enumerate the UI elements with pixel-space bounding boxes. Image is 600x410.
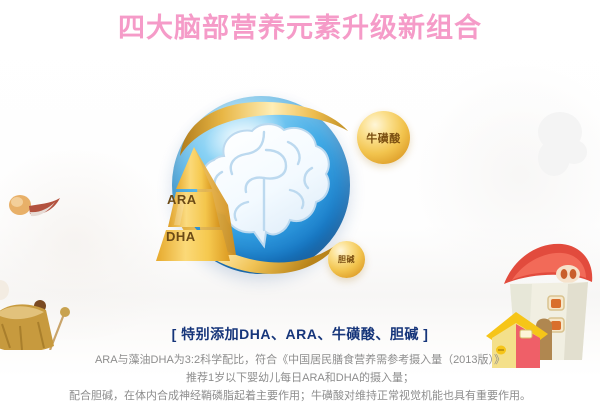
choline-ball: 胆碱: [328, 241, 365, 278]
copy-body-line-1: ARA与藻油DHA为3:2科学配比，符合《中国居民膳食营养需参考摄入量（2013…: [0, 351, 600, 369]
hero-graphic: ARA DHA 牛磺酸 胆碱: [150, 88, 450, 298]
watercolor-mallet-icon: [6, 192, 64, 226]
pyramid-label-dha: DHA: [166, 229, 196, 244]
copy-body-line-2: 推荐1岁以下婴幼儿每日ARA和DHA的摄入量；: [0, 369, 600, 387]
choline-ball-label: 胆碱: [338, 254, 355, 265]
pyramid-label-ara: ARA: [167, 192, 197, 207]
promo-banner: 四大脑部营养元素升级新组合: [0, 0, 600, 410]
taurine-ball: 牛磺酸: [357, 111, 410, 164]
copy-body-line-3: 配合胆碱，在体内合成神经鞘磷脂起着主要作用；牛磺酸对维持正常视觉机能也具有重要作…: [0, 387, 600, 405]
copy-block: [ 特别添加DHA、ARA、牛磺酸、胆碱 ] ARA与藻油DHA为3:2科学配比…: [0, 324, 600, 405]
faint-cloud-icon: [520, 110, 590, 184]
page-title: 四大脑部营养元素升级新组合: [0, 11, 600, 45]
copy-heading: [ 特别添加DHA、ARA、牛磺酸、胆碱 ]: [0, 324, 600, 344]
taurine-ball-label: 牛磺酸: [366, 130, 401, 146]
copy-body: ARA与藻油DHA为3:2科学配比，符合《中国居民膳食营养需参考摄入量（2013…: [0, 351, 600, 405]
gold-pyramid: ARA DHA: [150, 143, 262, 268]
